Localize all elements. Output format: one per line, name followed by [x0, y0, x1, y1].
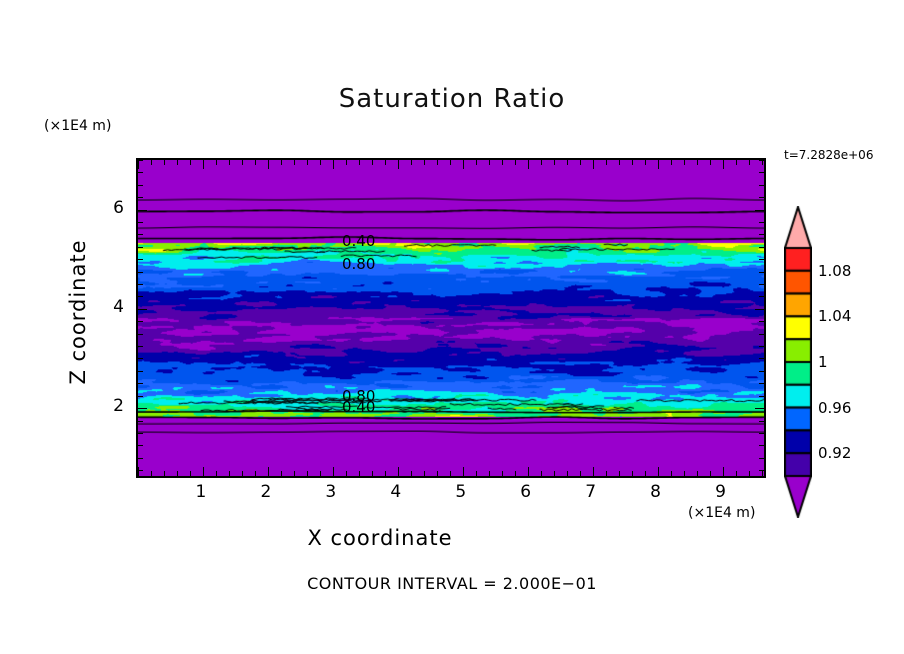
x-tick-label: 9 [706, 482, 736, 502]
x-tick-label: 6 [511, 482, 541, 502]
y-axis-tick-right [759, 458, 764, 459]
x-axis-tick [203, 467, 204, 476]
x-axis-tick-top [307, 160, 308, 165]
x-axis-tick-top [164, 160, 165, 165]
x-tick-label: 5 [446, 482, 476, 502]
x-axis-tick-top [632, 160, 633, 165]
x-axis-tick [411, 471, 412, 476]
y-axis-tick [138, 222, 143, 223]
x-axis-tick [632, 471, 633, 476]
y-axis-tick [138, 421, 143, 422]
y-axis-tick [138, 234, 143, 235]
x-axis-tick-top [216, 160, 217, 165]
x-axis-tick-top [736, 160, 737, 165]
y-axis-tick [138, 371, 143, 372]
y-axis-tick-right [759, 383, 764, 384]
x-axis-tick [489, 471, 490, 476]
x-axis-tick [164, 471, 165, 476]
x-axis-tick-top [203, 160, 204, 169]
x-tick-label: 1 [186, 482, 216, 502]
y-axis-tick-right [759, 197, 764, 198]
x-axis-tick-top [398, 160, 399, 169]
y-axis-tick [138, 445, 143, 446]
y-axis-tick-right [759, 396, 764, 397]
x-axis-tick-top [411, 160, 412, 165]
contour-level-label: 0.40 [342, 232, 375, 250]
x-axis-tick-top [424, 160, 425, 165]
x-axis-tick [385, 471, 386, 476]
y-axis-tick [138, 247, 143, 248]
y-tick-label: 6 [98, 198, 124, 218]
y-axis-tick-right [759, 247, 764, 248]
y-axis-tick-right [759, 185, 764, 186]
x-axis-tick [645, 471, 646, 476]
x-axis-tick [242, 471, 243, 476]
y-axis-tick [138, 408, 147, 409]
x-axis-tick-top [346, 160, 347, 165]
x-axis-tick [567, 471, 568, 476]
x-axis-tick [619, 471, 620, 476]
y-axis-unit-label: (×1E4 m) [44, 118, 111, 134]
x-axis-tick [281, 471, 282, 476]
y-axis-tick [138, 172, 143, 173]
x-axis-tick-top [359, 160, 360, 165]
y-axis-tick-right [755, 408, 764, 409]
x-axis-tick-top [671, 160, 672, 165]
y-axis-tick [138, 334, 143, 335]
x-axis-tick [151, 471, 152, 476]
x-axis-tick [320, 471, 321, 476]
x-tick-label: 8 [641, 482, 671, 502]
y-axis-tick [138, 210, 147, 211]
y-axis-tick-right [759, 334, 764, 335]
y-axis-tick-right [759, 172, 764, 173]
y-axis-tick [138, 321, 143, 322]
x-axis-tick [346, 471, 347, 476]
x-axis-tick-top [541, 160, 542, 165]
x-tick-label: 3 [316, 482, 346, 502]
y-axis-tick-right [755, 309, 764, 310]
x-axis-tick-top [476, 160, 477, 165]
colorbar-tick-label: 0.96 [818, 399, 851, 417]
y-axis-tick-right [759, 160, 764, 161]
time-annotation: t=7.2828e+06 [784, 148, 873, 162]
y-axis-tick [138, 185, 143, 186]
x-axis-tick-top [645, 160, 646, 165]
x-axis-tick-top [333, 160, 334, 169]
x-axis-tick [723, 467, 724, 476]
x-axis-tick [190, 471, 191, 476]
x-axis-tick [268, 467, 269, 476]
x-axis-tick [736, 471, 737, 476]
x-axis-tick [762, 471, 763, 476]
x-axis-tick-top [151, 160, 152, 165]
y-axis-tick-right [759, 284, 764, 285]
x-axis-tick-top [658, 160, 659, 169]
colorbar-canvas [784, 206, 812, 518]
y-axis-tick [138, 396, 143, 397]
x-axis-tick [177, 471, 178, 476]
y-axis-tick-right [755, 210, 764, 211]
x-axis-tick-top [177, 160, 178, 165]
y-axis-tick [138, 383, 143, 384]
x-axis-tick [749, 471, 750, 476]
x-tick-label: 7 [576, 482, 606, 502]
x-axis-tick [541, 471, 542, 476]
x-axis-tick-top [255, 160, 256, 165]
x-axis-tick-top [554, 160, 555, 165]
y-axis-tick-right [759, 470, 764, 471]
x-tick-label: 2 [251, 482, 281, 502]
x-axis-tick-top [580, 160, 581, 165]
y-axis-tick-right [759, 445, 764, 446]
x-axis-tick-top [593, 160, 594, 169]
x-axis-tick [580, 471, 581, 476]
x-axis-tick [372, 471, 373, 476]
y-axis-tick-right [759, 272, 764, 273]
x-axis-tick-top [294, 160, 295, 165]
y-axis-tick [138, 470, 143, 471]
x-axis-tick-top [242, 160, 243, 165]
x-axis-tick [333, 467, 334, 476]
contour-plot-area: 0.400.800.800.40 [136, 158, 766, 478]
y-tick-label: 4 [98, 297, 124, 317]
x-axis-tick-top [528, 160, 529, 169]
x-axis-tick [138, 467, 139, 476]
y-axis-tick [138, 160, 143, 161]
x-axis-tick [671, 471, 672, 476]
y-axis-tick-right [759, 346, 764, 347]
x-axis-tick-top [606, 160, 607, 165]
page-title: Saturation Ratio [0, 84, 904, 114]
y-axis-tick [138, 433, 143, 434]
x-axis-tick [437, 471, 438, 476]
x-axis-tick-top [190, 160, 191, 165]
x-axis-tick-top [463, 160, 464, 169]
y-axis-tick [138, 346, 143, 347]
contour-level-label: 0.80 [342, 255, 375, 273]
x-axis-tick [450, 471, 451, 476]
x-axis-tick [697, 471, 698, 476]
x-axis-tick [424, 471, 425, 476]
x-tick-label: 4 [381, 482, 411, 502]
colorbar-tick-label: 1.04 [818, 307, 851, 325]
x-axis-tick-top [502, 160, 503, 165]
x-axis-tick [515, 471, 516, 476]
y-axis-tick [138, 197, 143, 198]
colorbar [784, 206, 812, 518]
x-axis-tick [710, 471, 711, 476]
y-axis-tick-right [759, 234, 764, 235]
x-axis-tick [658, 467, 659, 476]
y-axis-tick-right [759, 222, 764, 223]
x-axis-tick-top [372, 160, 373, 165]
y-axis-tick [138, 309, 147, 310]
x-axis-tick [255, 471, 256, 476]
x-axis-tick [528, 467, 529, 476]
y-axis-tick [138, 358, 143, 359]
contour-field-canvas [138, 160, 764, 476]
x-axis-tick-top [684, 160, 685, 165]
y-axis-tick-right [759, 321, 764, 322]
y-axis-tick [138, 272, 143, 273]
contour-level-label: 0.40 [342, 398, 375, 416]
x-axis-tick-top [567, 160, 568, 165]
x-axis-tick-top [710, 160, 711, 165]
x-axis-tick [606, 471, 607, 476]
y-axis-tick-right [759, 259, 764, 260]
x-axis-tick [502, 471, 503, 476]
x-axis-tick [229, 471, 230, 476]
x-axis-tick-top [619, 160, 620, 165]
y-tick-label: 2 [98, 396, 124, 416]
x-axis-tick [463, 467, 464, 476]
x-axis-tick [554, 471, 555, 476]
x-axis-tick [684, 471, 685, 476]
y-axis-title: Z coordinate [66, 212, 90, 412]
x-axis-tick-top [489, 160, 490, 165]
x-axis-tick [307, 471, 308, 476]
y-axis-tick [138, 458, 143, 459]
x-axis-tick-top [437, 160, 438, 165]
x-axis-tick [476, 471, 477, 476]
y-axis-tick-right [759, 296, 764, 297]
x-axis-tick-top [723, 160, 724, 169]
x-axis-tick-top [385, 160, 386, 165]
x-axis-tick [294, 471, 295, 476]
y-axis-tick-right [759, 433, 764, 434]
x-axis-tick [359, 471, 360, 476]
x-axis-tick-top [749, 160, 750, 165]
x-axis-unit-label: (×1E4 m) [688, 505, 755, 521]
x-axis-tick-top [281, 160, 282, 165]
x-axis-tick-top [697, 160, 698, 165]
footer-contour-interval: CONTOUR INTERVAL = 2.000E−01 [0, 574, 904, 593]
x-axis-tick [216, 471, 217, 476]
x-axis-tick-top [450, 160, 451, 165]
x-axis-tick-top [138, 160, 139, 169]
x-axis-tick [593, 467, 594, 476]
y-axis-tick-right [759, 371, 764, 372]
colorbar-tick-label: 1.08 [818, 262, 851, 280]
x-axis-title: X coordinate [0, 526, 760, 550]
colorbar-tick-label: 0.92 [818, 444, 851, 462]
y-axis-tick-right [759, 358, 764, 359]
x-axis-tick-top [268, 160, 269, 169]
y-axis-tick [138, 259, 143, 260]
colorbar-tick-label: 1 [818, 353, 828, 371]
x-axis-tick-top [229, 160, 230, 165]
y-axis-tick [138, 296, 143, 297]
y-axis-tick-right [759, 421, 764, 422]
x-axis-tick-top [515, 160, 516, 165]
x-axis-tick-top [320, 160, 321, 165]
y-axis-tick [138, 284, 143, 285]
x-axis-tick [398, 467, 399, 476]
